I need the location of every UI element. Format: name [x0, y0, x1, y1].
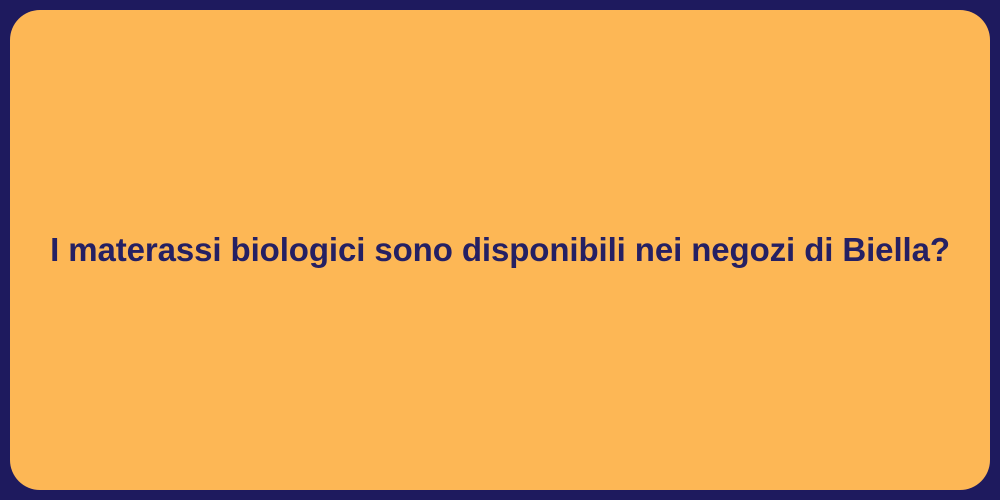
headline-text: I materassi biologici sono disponibili n…: [10, 229, 990, 270]
page-background: I materassi biologici sono disponibili n…: [0, 0, 1000, 500]
question-card: I materassi biologici sono disponibili n…: [10, 10, 990, 490]
